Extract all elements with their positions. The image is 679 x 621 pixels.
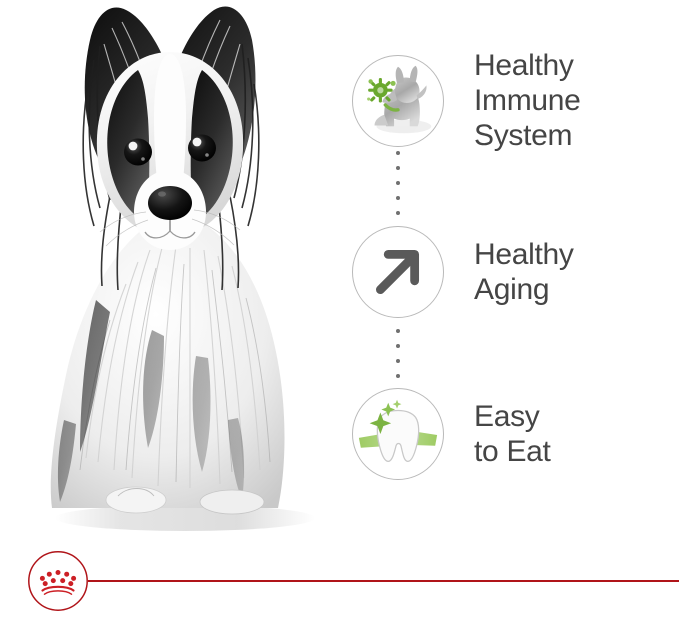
feature-label-healthy-immune-system: Healthy Immune System bbox=[474, 48, 581, 153]
feature-label-healthy-aging: Healthy Aging bbox=[474, 237, 574, 307]
royal-canin-crown-logo bbox=[27, 550, 89, 612]
feature-item-easy-to-eat: Easy to Eat bbox=[352, 388, 672, 480]
dog-immune-icon bbox=[352, 55, 444, 147]
connector-dot bbox=[396, 329, 400, 333]
tooth-sparkle-icon bbox=[352, 388, 444, 480]
connector-dot bbox=[396, 166, 400, 170]
dog-photo bbox=[0, 0, 340, 555]
connector-dot bbox=[396, 374, 400, 378]
feature-list: Healthy Immune System Healthy Aging bbox=[352, 48, 672, 498]
connector-dots-1 bbox=[396, 151, 401, 219]
feature-item-healthy-immune-system: Healthy Immune System bbox=[352, 48, 672, 153]
feature-item-healthy-aging: Healthy Aging bbox=[352, 226, 672, 318]
brand-bar bbox=[0, 541, 679, 621]
connector-dot bbox=[396, 211, 400, 215]
feature-label-easy-to-eat: Easy to Eat bbox=[474, 399, 551, 469]
brand-divider-line bbox=[88, 580, 679, 582]
connector-dot bbox=[396, 359, 400, 363]
connector-dot bbox=[396, 181, 400, 185]
connector-dot bbox=[396, 344, 400, 348]
connector-dots-2 bbox=[396, 329, 401, 381]
arrow-up-right-icon bbox=[352, 226, 444, 318]
connector-dot bbox=[396, 151, 400, 155]
connector-dot bbox=[396, 196, 400, 200]
